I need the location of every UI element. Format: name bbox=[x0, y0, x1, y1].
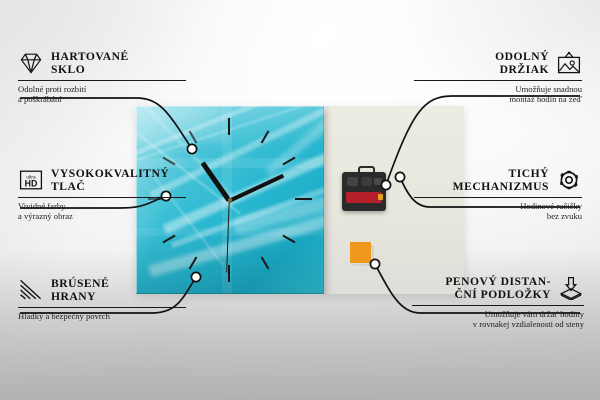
feature-subtitle: Umožňuje snadnou montáž hodin na zeď bbox=[414, 84, 582, 105]
wall-hanger-picture-icon bbox=[556, 51, 582, 75]
marker-foam bbox=[370, 259, 379, 268]
feature-subtitle: Hladký a bezpečný povrch bbox=[18, 311, 186, 322]
marker-edges bbox=[191, 272, 200, 281]
feature-tempered-glass: HARTOVANÉ SKLO Odolné proti rozbití a po… bbox=[18, 50, 186, 105]
feature-title: TICHÝ MECHANIZMUS bbox=[453, 167, 549, 194]
press-down-pad-icon bbox=[558, 276, 584, 300]
marker-tempered-glass bbox=[187, 144, 196, 153]
feature-silent-mechanism: TICHÝ MECHANIZMUS Hodinové ručičky bez z… bbox=[414, 167, 582, 222]
connector-tempered-glass bbox=[20, 98, 192, 149]
feature-ground-edges: BRÚSENÉ HRANY Hladký a bezpečný povrch bbox=[18, 277, 186, 321]
feature-subtitle: Umožňuje vám držať hodiny v rovnakej vzd… bbox=[412, 309, 584, 330]
marker-mechanism bbox=[395, 172, 404, 181]
feature-durable-holder: ODOLNÝ DRŽIAK Umožňuje snadnou montáž ho… bbox=[414, 50, 582, 105]
feature-title: BRÚSENÉ HRANY bbox=[51, 277, 109, 304]
feature-divider bbox=[18, 197, 186, 198]
feature-divider bbox=[412, 305, 584, 306]
feature-subtitle: Vividné farby a výrazný obraz bbox=[18, 201, 186, 222]
feature-divider bbox=[18, 80, 186, 81]
gear-icon bbox=[556, 168, 582, 192]
feature-title: VYSOKOKVALITNÝ TLAČ bbox=[51, 167, 169, 194]
svg-text:HD: HD bbox=[25, 179, 38, 189]
feature-subtitle: Odolné proti rozbití a poškrábání bbox=[18, 84, 186, 105]
feature-foam-spacers: PENOVÝ DISTAN- ČNÍ PODLOŽKY Umožňuje vám… bbox=[412, 275, 584, 330]
feature-divider bbox=[18, 307, 186, 308]
feature-title: PENOVÝ DISTAN- ČNÍ PODLOŽKY bbox=[445, 275, 551, 302]
bevelled-edge-icon bbox=[18, 278, 44, 302]
ultra-hd-icon: ultra HD bbox=[18, 168, 44, 192]
feature-title: HARTOVANÉ SKLO bbox=[51, 50, 129, 77]
feature-divider bbox=[414, 197, 582, 198]
product-infographic: HARTOVANÉ SKLO Odolné proti rozbití a po… bbox=[0, 0, 600, 400]
feature-subtitle: Hodinové ručičky bez zvuku bbox=[414, 201, 582, 222]
diamond-icon bbox=[18, 51, 44, 75]
marker-holder bbox=[381, 180, 390, 189]
feature-high-quality-print: ultra HD VYSOKOKVALITNÝ TLAČ Vividné far… bbox=[18, 167, 186, 222]
feature-title: ODOLNÝ DRŽIAK bbox=[495, 50, 549, 77]
feature-divider bbox=[414, 80, 582, 81]
